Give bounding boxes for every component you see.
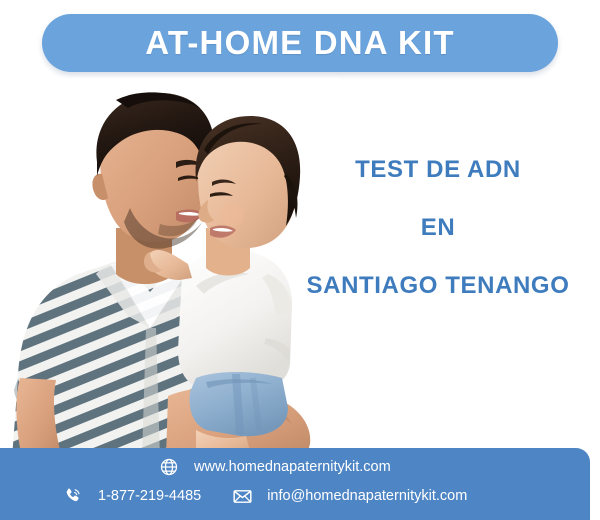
- headline-line-2: EN: [288, 213, 588, 243]
- phone-label[interactable]: 1-877-219-4485: [98, 485, 201, 507]
- contact-footer: www.homednapaternitykit.com 1-877-219-44…: [0, 448, 590, 520]
- headline-block: TEST DE ADN EN SANTIAGO TENANGO: [288, 155, 588, 301]
- footer-row-website: www.homednapaternitykit.com: [158, 456, 391, 478]
- email-group[interactable]: info@homednapaternitykit.com: [231, 485, 467, 507]
- poster-canvas: AT-HOME DNA KIT: [0, 0, 600, 520]
- email-label[interactable]: info@homednapaternitykit.com: [267, 485, 467, 507]
- title-banner: AT-HOME DNA KIT: [42, 14, 558, 72]
- page-title: AT-HOME DNA KIT: [145, 24, 454, 62]
- headline-line-1: TEST DE ADN: [288, 155, 588, 185]
- headline-line-3: SANTIAGO TENANGO: [288, 271, 588, 301]
- phone-icon: [62, 485, 84, 507]
- globe-icon: [158, 456, 180, 478]
- website-group[interactable]: www.homednapaternitykit.com: [158, 456, 391, 478]
- website-label[interactable]: www.homednapaternitykit.com: [194, 456, 391, 478]
- phone-group[interactable]: 1-877-219-4485: [62, 485, 201, 507]
- footer-row-phone-email: 1-877-219-4485 info@homednapaternitykit.…: [62, 485, 467, 507]
- envelope-icon: [231, 485, 253, 507]
